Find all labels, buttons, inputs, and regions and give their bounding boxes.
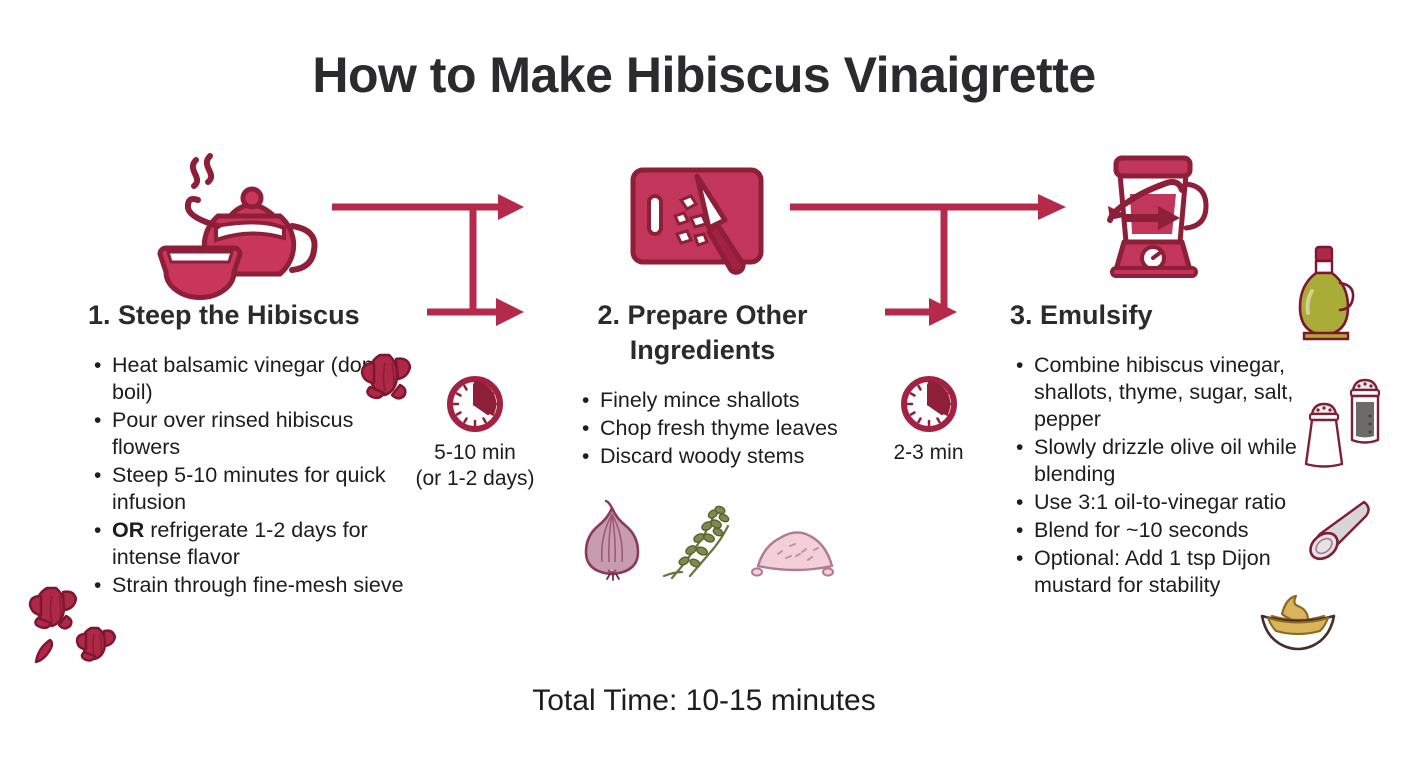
hibiscus-bud-pair-icon xyxy=(22,572,130,670)
step-3-bullets: Combine hibiscus vinegar, shallots, thym… xyxy=(1012,352,1322,600)
list-item: Chop fresh thyme leaves xyxy=(578,415,868,442)
clock-icon xyxy=(899,374,959,434)
blender-icon xyxy=(1098,148,1224,282)
bullet-bold-prefix: OR xyxy=(112,518,150,542)
list-item: OR refrigerate 1-2 days for intense flav… xyxy=(90,517,406,571)
bullet-text: Use 3:1 oil-to-vinegar ratio xyxy=(1034,490,1286,514)
bullet-text: Chop fresh thyme leaves xyxy=(600,416,838,440)
shallot-icon xyxy=(572,500,654,580)
infographic-canvas: How to Make Hibiscus Vinaigrette xyxy=(0,0,1408,768)
salt-mound-icon xyxy=(752,520,838,578)
list-item: Finely mince shallots xyxy=(578,387,868,414)
list-item: Steep 5-10 minutes for quick infusion xyxy=(90,462,406,516)
list-item: Blend for ~10 seconds xyxy=(1012,517,1322,544)
bullet-text: Strain through fine-mesh sieve xyxy=(112,573,404,597)
step-3-heading: 3. Emulsify xyxy=(1010,298,1320,333)
list-item: Pour over rinsed hibiscus flowers xyxy=(90,407,406,461)
page-title: How to Make Hibiscus Vinaigrette xyxy=(0,46,1408,104)
bullet-text: Steep 5-10 minutes for quick infusion xyxy=(112,463,386,514)
timer-label-line1: 2-3 min xyxy=(866,440,991,466)
bullet-text: Finely mince shallots xyxy=(600,388,800,412)
clock-icon xyxy=(445,374,505,434)
teapot-icon xyxy=(160,148,330,280)
timer-label-line1: 5-10 min xyxy=(410,440,540,466)
step-2-heading: 2. Prepare Other Ingredients xyxy=(575,298,830,368)
step-2-bullets: Finely mince shallots Chop fresh thyme l… xyxy=(578,387,868,471)
hibiscus-bud-icon xyxy=(358,345,420,407)
list-item: Combine hibiscus vinegar, shallots, thym… xyxy=(1012,352,1322,433)
bullet-text: Heat balsamic vinegar (don't boil) xyxy=(112,353,384,404)
olive-oil-bottle-icon xyxy=(1292,243,1364,343)
bullet-text: Pour over rinsed hibiscus flowers xyxy=(112,408,353,459)
spoon-icon xyxy=(1300,496,1378,568)
list-item: Strain through fine-mesh sieve xyxy=(90,572,406,599)
bullet-text: refrigerate 1-2 days for intense flavor xyxy=(112,518,368,569)
bullet-text: Optional: Add 1 tsp Dijon mustard for st… xyxy=(1034,546,1271,597)
pepper-shaker-icon xyxy=(1340,374,1390,450)
list-item: Discard woody stems xyxy=(578,443,868,470)
bullet-text: Blend for ~10 seconds xyxy=(1034,518,1249,542)
bullet-text: Discard woody stems xyxy=(600,444,804,468)
timer-step2: 2-3 min xyxy=(866,374,991,466)
mustard-bowl-icon xyxy=(1258,588,1338,650)
timer-step1: 5-10 min (or 1-2 days) xyxy=(410,374,540,492)
bullet-text: Combine hibiscus vinegar, shallots, thym… xyxy=(1034,353,1293,431)
list-item: Use 3:1 oil-to-vinegar ratio xyxy=(1012,489,1322,516)
timer-label-line2: (or 1-2 days) xyxy=(410,466,540,492)
list-item: Slowly drizzle olive oil while blending xyxy=(1012,434,1322,488)
bullet-text: Slowly drizzle olive oil while blending xyxy=(1034,435,1297,486)
total-time-label: Total Time: 10-15 minutes xyxy=(0,684,1408,718)
thyme-sprig-icon xyxy=(660,498,746,582)
cutting-board-icon xyxy=(625,158,785,276)
step-1-heading: 1. Steep the Hibiscus xyxy=(88,298,428,333)
